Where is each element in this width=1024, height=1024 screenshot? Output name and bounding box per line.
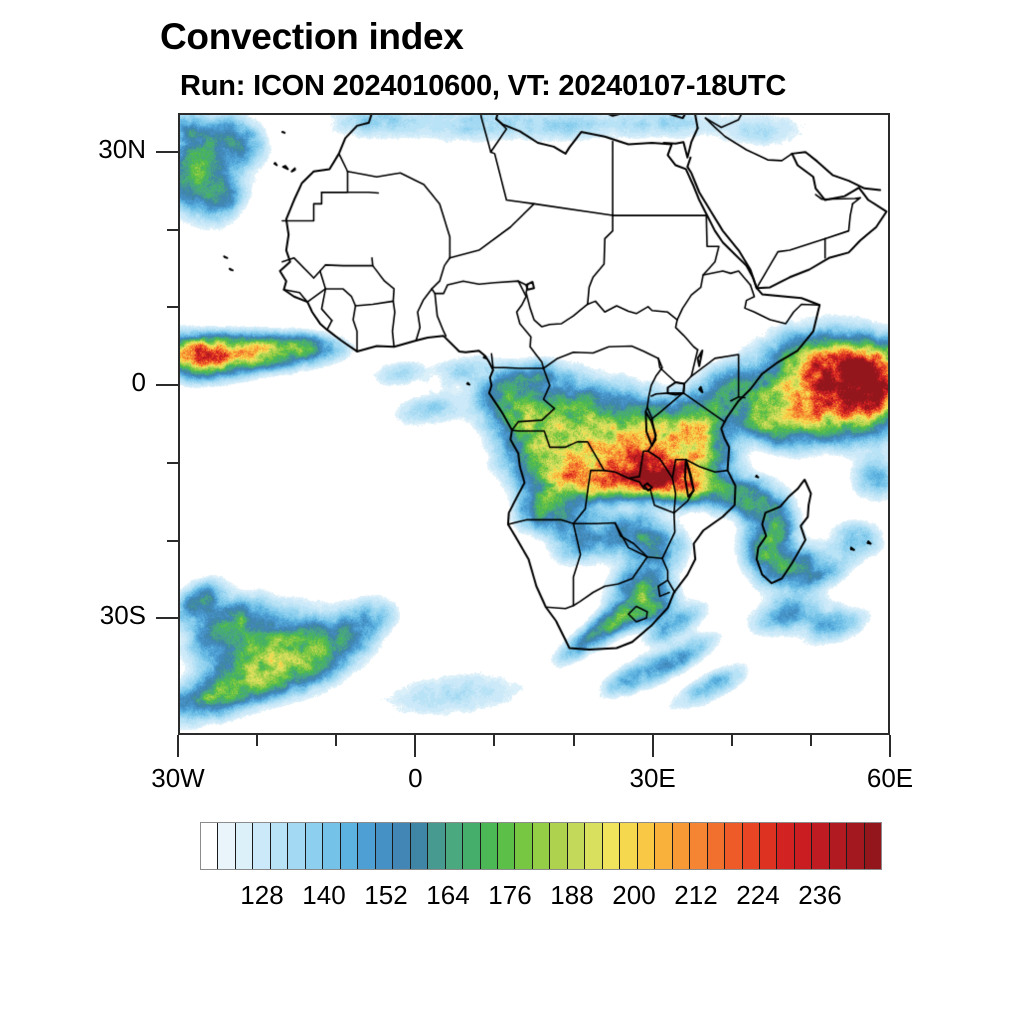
colorbar-swatch [271, 823, 288, 869]
colorbar-tick-188: 188 [550, 880, 593, 911]
ytick-minor-1 [167, 306, 178, 308]
colorbar-swatch [498, 823, 515, 869]
colorbar-swatch [288, 823, 305, 869]
xtick-minor-4 [731, 735, 733, 746]
xlabel-60E: 60E [810, 763, 970, 794]
colorbar-swatch [533, 823, 550, 869]
map-plot-area [178, 113, 890, 735]
colorbar-swatch [830, 823, 847, 869]
colorbar-swatch [376, 823, 393, 869]
xlabel-30E: 30E [573, 763, 733, 794]
colorbar-swatch [620, 823, 637, 869]
map-raster [180, 115, 888, 733]
colorbar-swatch [411, 823, 428, 869]
colorbar-swatch [847, 823, 864, 869]
ylabel-30S: 30S [0, 600, 146, 631]
xtick-major-0 [177, 735, 179, 757]
colorbar-swatch [428, 823, 445, 869]
xlabel-30W: 30W [98, 763, 258, 794]
colorbar-swatch [760, 823, 777, 869]
xtick-major-3 [889, 735, 891, 757]
xtick-minor-0 [256, 735, 258, 746]
ytick-major-2 [156, 617, 178, 619]
colorbar-swatch [812, 823, 829, 869]
xtick-major-1 [414, 735, 416, 757]
colorbar-swatch [585, 823, 602, 869]
colorbar-tick-176: 176 [488, 880, 531, 911]
colorbar-swatch [550, 823, 567, 869]
colorbar-swatch [358, 823, 375, 869]
colorbar-tick-164: 164 [426, 880, 469, 911]
xtick-minor-2 [493, 735, 495, 746]
colorbar-tick-212: 212 [674, 880, 717, 911]
colorbar-swatch [201, 823, 218, 869]
colorbar-swatch [568, 823, 585, 869]
colorbar-swatch [236, 823, 253, 869]
xtick-minor-5 [810, 735, 812, 746]
ylabel-0: 0 [0, 367, 146, 398]
colorbar-swatch [777, 823, 794, 869]
colorbar-swatch [306, 823, 323, 869]
colorbar-swatch [708, 823, 725, 869]
colorbar-swatch [253, 823, 270, 869]
colorbar-swatch [515, 823, 532, 869]
colorbar-swatch [673, 823, 690, 869]
colorbar-swatch [865, 823, 881, 869]
page-title: Convection index [160, 16, 464, 58]
colorbar-swatch [655, 823, 672, 869]
ytick-major-0 [156, 151, 178, 153]
colorbar-swatch [725, 823, 742, 869]
colorbar-swatch [393, 823, 410, 869]
colorbar-swatch [638, 823, 655, 869]
colorbar-swatch [323, 823, 340, 869]
colorbar-tick-224: 224 [736, 880, 779, 911]
xtick-minor-1 [335, 735, 337, 746]
colorbar-swatch [481, 823, 498, 869]
ytick-minor-2 [167, 462, 178, 464]
colorbar-tick-labels: 128140152164176188200212224236 [200, 880, 882, 914]
colorbar-swatch [218, 823, 235, 869]
page-subtitle: Run: ICON 2024010600, VT: 20240107-18UTC [180, 70, 786, 103]
colorbar-tick-128: 128 [240, 880, 283, 911]
ytick-minor-3 [167, 540, 178, 542]
colorbar-swatch [341, 823, 358, 869]
colorbar-tick-140: 140 [302, 880, 345, 911]
colorbar-swatch [603, 823, 620, 869]
colorbar-tick-152: 152 [364, 880, 407, 911]
ylabel-30N: 30N [0, 134, 146, 165]
xtick-major-2 [652, 735, 654, 757]
colorbar-swatch [446, 823, 463, 869]
ytick-major-1 [156, 384, 178, 386]
colorbar-tick-236: 236 [798, 880, 841, 911]
figure-root: Convection index Run: ICON 2024010600, V… [0, 0, 1024, 1024]
colorbar-swatch [463, 823, 480, 869]
xtick-minor-3 [573, 735, 575, 746]
colorbar-swatch [795, 823, 812, 869]
colorbar [200, 822, 882, 870]
colorbar-tick-200: 200 [612, 880, 655, 911]
colorbar-swatch [690, 823, 707, 869]
xlabel-0: 0 [335, 763, 495, 794]
ytick-minor-0 [167, 229, 178, 231]
colorbar-swatch [743, 823, 760, 869]
